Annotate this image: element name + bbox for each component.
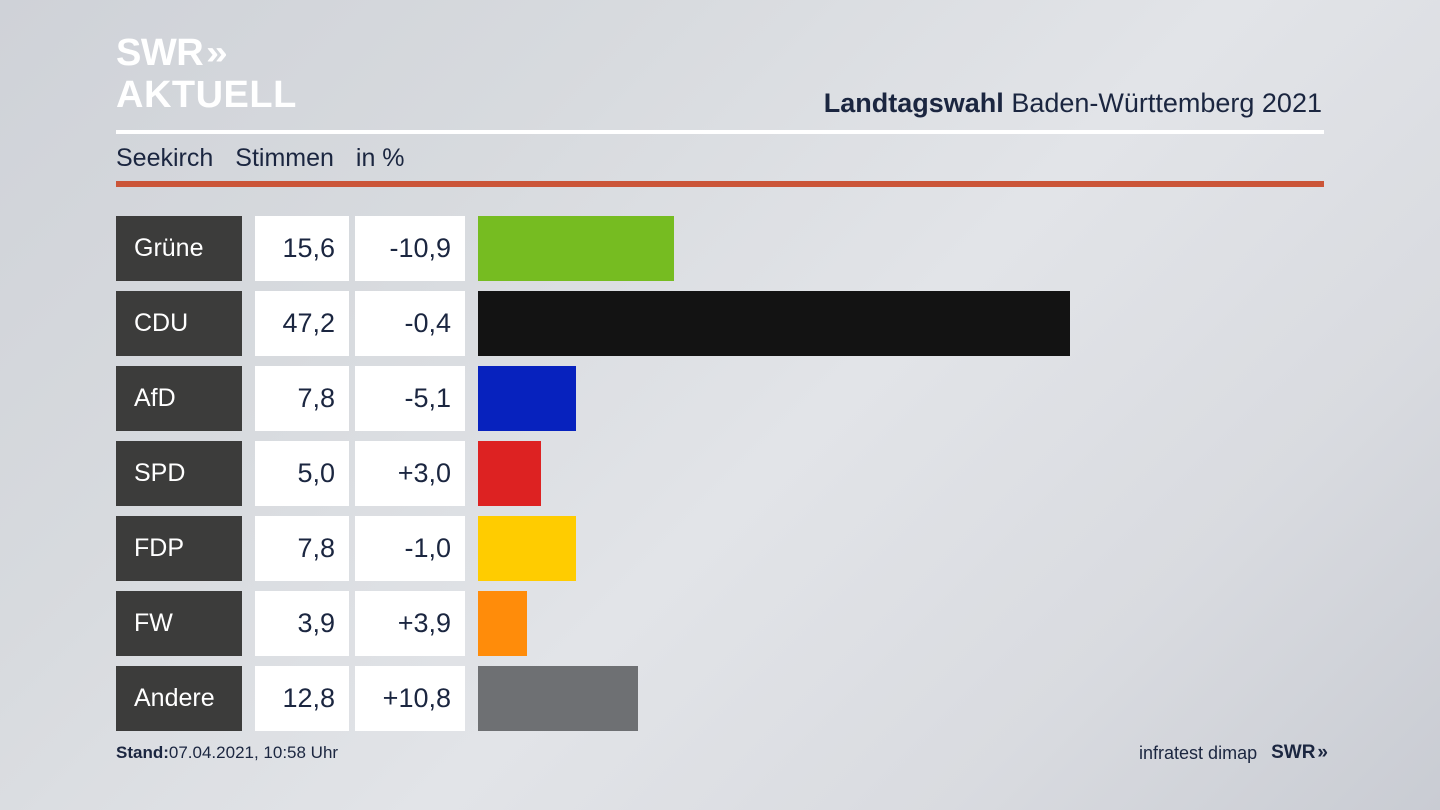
party-label: SPD xyxy=(116,441,242,506)
logo-text-swr: SWR xyxy=(116,34,203,72)
broadcaster-logo: SWR» xyxy=(1271,742,1324,764)
bar-track xyxy=(478,366,1324,431)
party-bar xyxy=(478,666,638,731)
double-chevron-right-icon-small: » xyxy=(1317,742,1324,764)
institute-label: infratest dimap xyxy=(1139,743,1257,764)
broadcaster-text: SWR xyxy=(1271,742,1315,764)
timestamp: Stand:07.04.2021, 10:58 Uhr xyxy=(116,743,338,763)
election-result-graphic: SWR » AKTUELL Landtagswahl Baden-Württem… xyxy=(0,0,1440,810)
party-share-value: 7,8 xyxy=(255,366,349,431)
unit-label: in % xyxy=(356,144,405,173)
logo-text-aktuell: AKTUELL xyxy=(116,76,297,114)
bar-track xyxy=(478,516,1324,581)
party-bar xyxy=(478,516,576,581)
bar-track xyxy=(478,441,1324,506)
party-label: FW xyxy=(116,591,242,656)
region-label: Seekirch xyxy=(116,144,213,173)
party-change-value: -5,1 xyxy=(355,366,465,431)
bar-track xyxy=(478,291,1324,356)
party-bar xyxy=(478,366,576,431)
party-change-value: +3,9 xyxy=(355,591,465,656)
party-change-value: -10,9 xyxy=(355,216,465,281)
party-bar xyxy=(478,291,1070,356)
table-row: SPD5,0+3,0 xyxy=(116,441,1324,506)
party-share-value: 5,0 xyxy=(255,441,349,506)
page-title-emphasis: Landtagswahl xyxy=(824,88,1004,118)
party-change-value: -0,4 xyxy=(355,291,465,356)
party-share-value: 12,8 xyxy=(255,666,349,731)
party-label: Andere xyxy=(116,666,242,731)
bar-track xyxy=(478,216,1324,281)
party-bar xyxy=(478,216,674,281)
party-label: AfD xyxy=(116,366,242,431)
accent-divider xyxy=(116,181,1324,187)
credits: infratest dimap SWR» xyxy=(1139,742,1324,764)
party-label: CDU xyxy=(116,291,242,356)
swr-aktuell-logo: SWR » AKTUELL xyxy=(116,34,297,114)
bar-track xyxy=(478,591,1324,656)
table-row: FDP7,8-1,0 xyxy=(116,516,1324,581)
results-table: Grüne15,6-10,9CDU47,2-0,4AfD7,8-5,1SPD5,… xyxy=(116,216,1324,741)
table-row: AfD7,8-5,1 xyxy=(116,366,1324,431)
party-change-value: +3,0 xyxy=(355,441,465,506)
party-change-value: +10,8 xyxy=(355,666,465,731)
party-change-value: -1,0 xyxy=(355,516,465,581)
bar-track xyxy=(478,666,1324,731)
metric-label: Stimmen xyxy=(235,144,334,173)
party-bar xyxy=(478,591,527,656)
subheader: Seekirch Stimmen in % xyxy=(116,144,405,173)
double-chevron-right-icon: » xyxy=(206,36,221,70)
party-share-value: 15,6 xyxy=(255,216,349,281)
party-share-value: 3,9 xyxy=(255,591,349,656)
party-label: Grüne xyxy=(116,216,242,281)
header-divider xyxy=(116,130,1324,134)
table-row: CDU47,2-0,4 xyxy=(116,291,1324,356)
party-label: FDP xyxy=(116,516,242,581)
logo-line-swr: SWR » xyxy=(116,34,297,72)
timestamp-value: 07.04.2021, 10:58 Uhr xyxy=(169,743,338,762)
party-share-value: 47,2 xyxy=(255,291,349,356)
page-title: Landtagswahl Baden-Württemberg 2021 xyxy=(824,88,1322,119)
timestamp-label: Stand: xyxy=(116,743,169,762)
table-row: FW3,9+3,9 xyxy=(116,591,1324,656)
page-title-rest: Baden-Württemberg 2021 xyxy=(1004,88,1322,118)
table-row: Andere12,8+10,8 xyxy=(116,666,1324,731)
table-row: Grüne15,6-10,9 xyxy=(116,216,1324,281)
party-bar xyxy=(478,441,541,506)
party-share-value: 7,8 xyxy=(255,516,349,581)
